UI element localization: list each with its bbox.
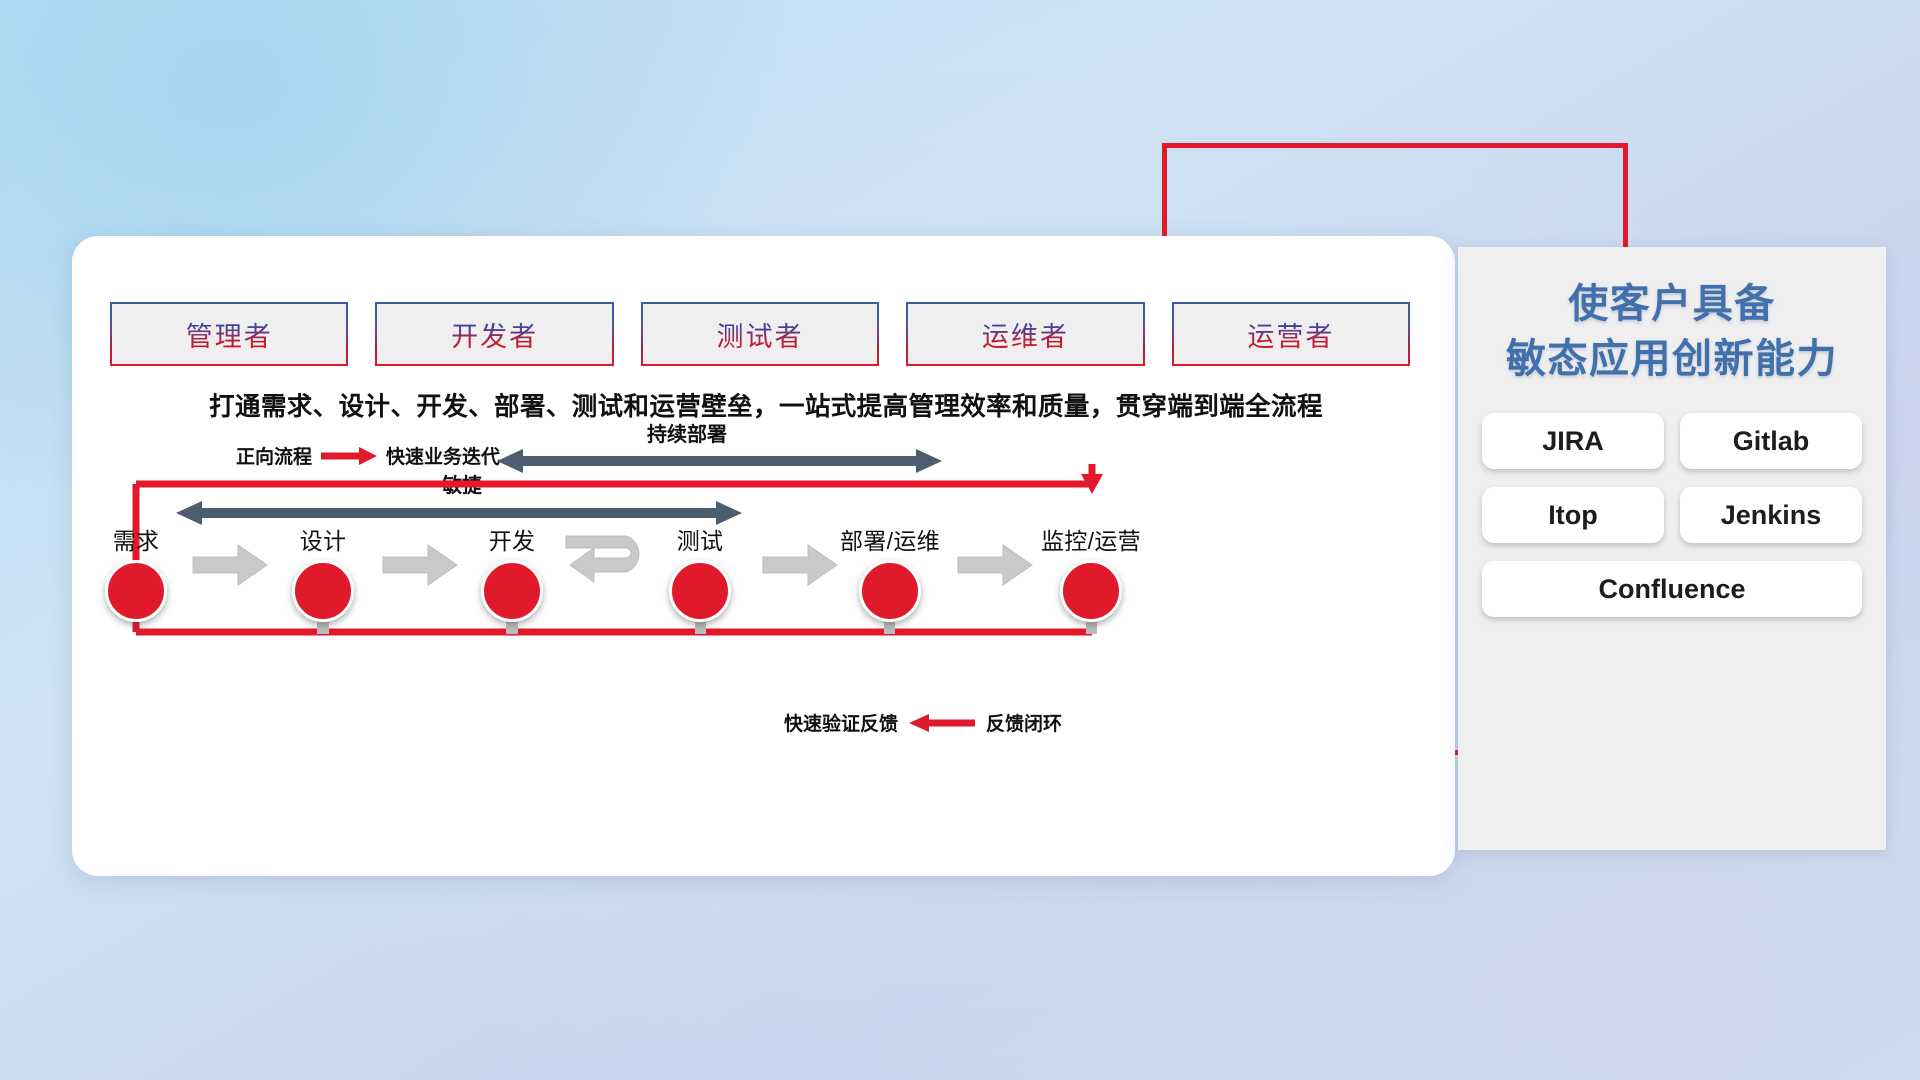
stage-label: 开发	[452, 522, 572, 556]
stage-testing[interactable]: 测试	[640, 522, 760, 622]
capability-side-panel: 使客户具备 敏态应用创新能力 JIRA Gitlab Itop Jenkins …	[1458, 247, 1886, 850]
stage-label: 设计	[263, 522, 383, 556]
tool-chip-jenkins[interactable]: Jenkins	[1680, 487, 1862, 543]
tool-chip-grid: JIRA Gitlab Itop Jenkins Confluence	[1482, 413, 1862, 617]
side-panel-title-line1: 使客户具备	[1458, 277, 1886, 332]
stage-design[interactable]: 设计	[263, 522, 383, 622]
stage-label: 部署/运维	[830, 522, 950, 556]
arrow-right-grey-icon	[192, 544, 268, 586]
stage-label: 监控/运营	[1031, 522, 1151, 556]
stage-dot	[859, 560, 921, 622]
stage-deploy-ops[interactable]: 部署/运维	[830, 522, 950, 622]
side-panel-title: 使客户具备 敏态应用创新能力	[1458, 277, 1886, 387]
arrow-right-grey-icon	[762, 544, 838, 586]
main-diagram-card: 管理者 开发者 测试者 运维者 运营者 打通需求、设计、开发、部署、测试和运营壁…	[72, 236, 1455, 876]
stage-development[interactable]: 开发	[452, 522, 572, 622]
arrow-right-grey-icon	[382, 544, 458, 586]
tool-chip-gitlab[interactable]: Gitlab	[1680, 413, 1862, 469]
tool-chip-confluence[interactable]: Confluence	[1482, 561, 1862, 617]
arrow-right-grey-icon	[957, 544, 1033, 586]
stage-label: 测试	[640, 522, 760, 556]
loop-back-grey-icon	[564, 528, 656, 598]
side-panel-title-line2: 敏态应用创新能力	[1458, 332, 1886, 387]
stage-dot	[1060, 560, 1122, 622]
stage-monitor-operation[interactable]: 监控/运营	[1031, 522, 1151, 622]
stage-dot	[105, 560, 167, 622]
stage-dot	[669, 560, 731, 622]
pipeline-stage-row: 需求 设计 开发 测试 部署/运维 监控/运营	[72, 236, 1455, 876]
stage-dot	[292, 560, 354, 622]
tool-chip-jira[interactable]: JIRA	[1482, 413, 1664, 469]
stage-requirement[interactable]: 需求	[76, 522, 196, 622]
stage-dot	[481, 560, 543, 622]
stage-label: 需求	[76, 522, 196, 556]
tool-chip-itop[interactable]: Itop	[1482, 487, 1664, 543]
